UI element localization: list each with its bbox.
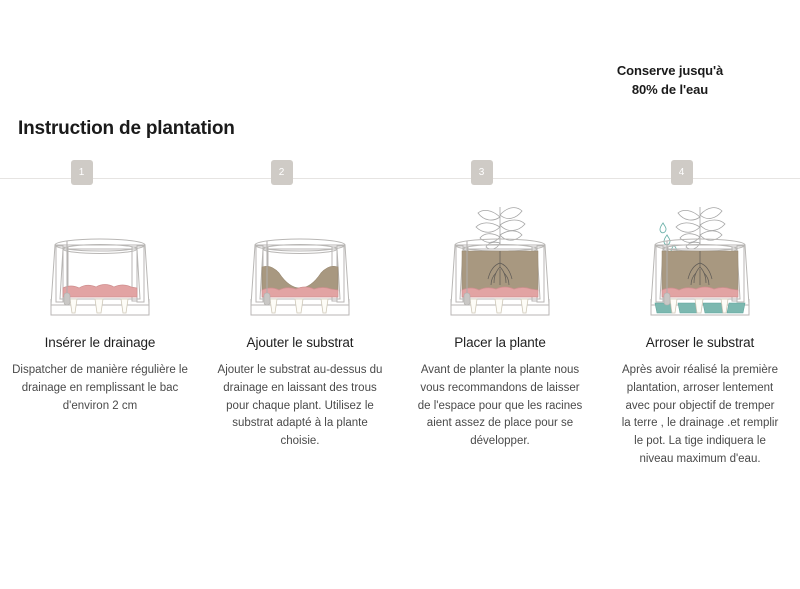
planting-instructions-page: Conserve jusqu'à 80% de l'eau Instructio…	[0, 0, 800, 589]
step-item-3: 3	[400, 160, 600, 469]
step-title-4: Arroser le substrat	[646, 335, 754, 350]
page-title: Instruction de plantation	[18, 118, 235, 140]
step-title-2: Ajouter le substrat	[247, 335, 354, 350]
step-badge-1: 1	[71, 160, 93, 185]
step-badge-3: 3	[471, 160, 493, 185]
water-claim-line-2: 80% de l'eau	[570, 81, 770, 100]
planter-substrate-icon	[225, 201, 375, 321]
step-title-1: Insérer le drainage	[45, 335, 156, 350]
step-body-3: Avant de planter la plante nous vous rec…	[414, 362, 586, 451]
step-badge-4: 4	[671, 160, 693, 185]
planter-watering-icon	[625, 201, 775, 321]
step-body-4: Après avoir réalisé la première plantati…	[620, 362, 780, 469]
step-body-2: Ajouter le substrat au-dessus du drainag…	[214, 362, 386, 451]
planter-drainage-icon	[25, 201, 175, 321]
step-badge-2: 2	[271, 160, 293, 185]
water-claim-line-1: Conserve jusqu'à	[570, 62, 770, 81]
steps-container: 1	[0, 160, 800, 469]
water-saving-claim: Conserve jusqu'à 80% de l'eau	[570, 62, 770, 100]
step-item-2: 2	[200, 160, 400, 469]
planter-plant-icon	[425, 201, 575, 321]
step-item-4: 4	[600, 160, 800, 469]
step-item-1: 1	[0, 160, 200, 469]
step-body-1: Dispatcher de manière régulière le drain…	[10, 362, 190, 415]
step-title-3: Placer la plante	[454, 335, 545, 350]
